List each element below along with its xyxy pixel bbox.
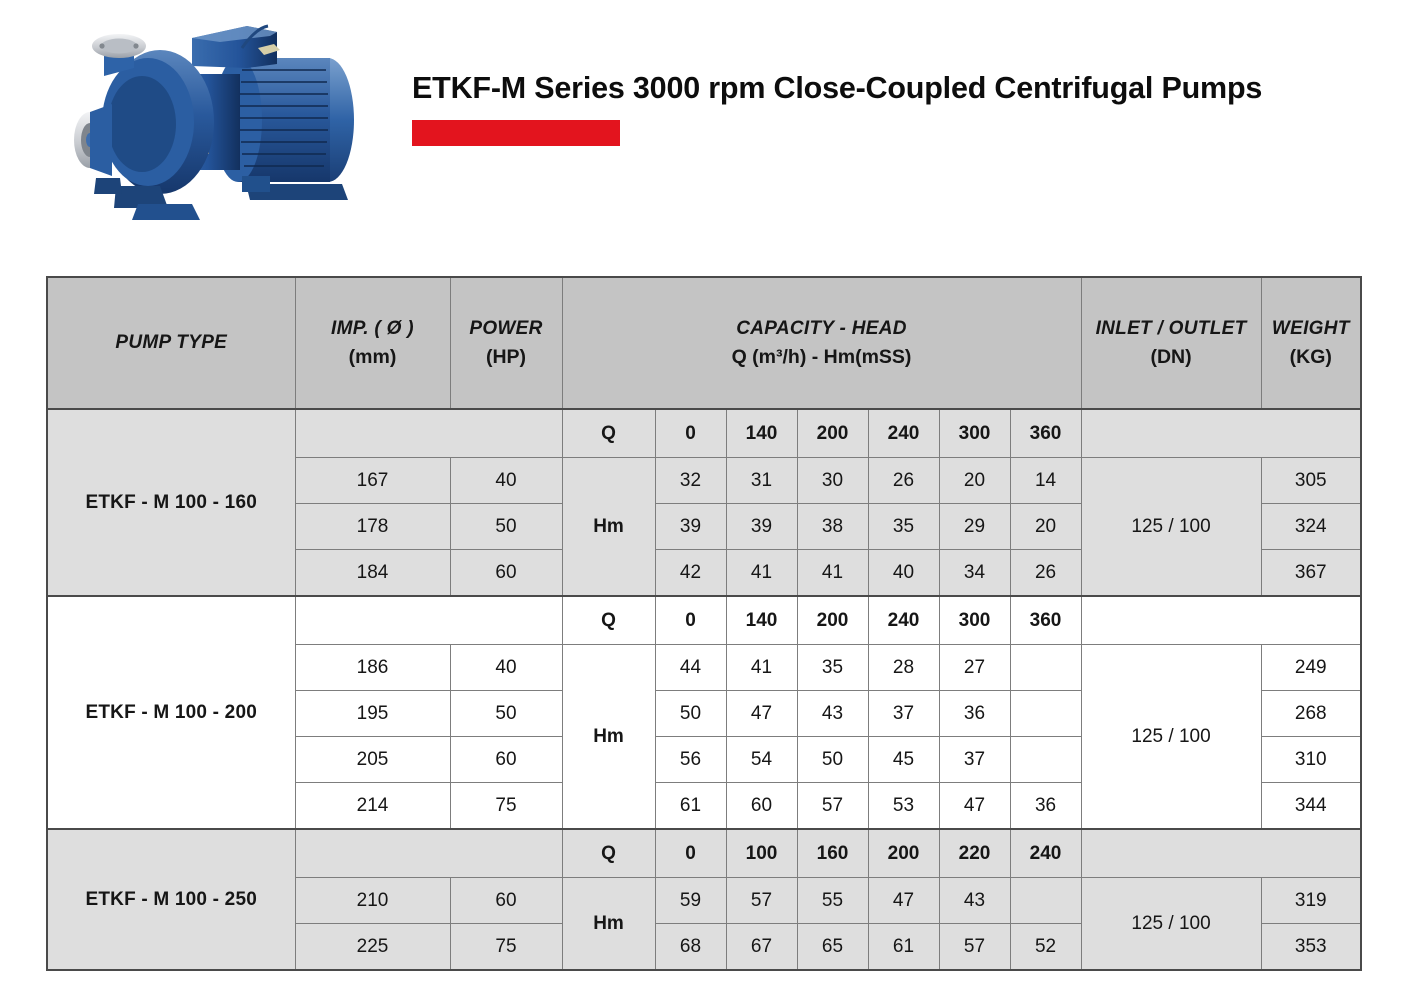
col-header-pump-type: PUMP TYPE	[47, 277, 295, 409]
weight-cell: 305	[1261, 458, 1361, 504]
pump-illustration-icon	[42, 8, 382, 236]
pump-specification-table: PUMP TYPE IMP. ( Ø ) (mm) POWER (HP) CAP…	[46, 276, 1362, 971]
power-cell: 75	[450, 924, 562, 971]
col-header-weight: WEIGHT (KG)	[1261, 277, 1361, 409]
head-value-cell: 47	[726, 691, 797, 737]
power-cell: 50	[450, 691, 562, 737]
q-header-row: ETKF - M 100 - 160Q0140200240300360	[47, 409, 1361, 458]
head-value-cell: 30	[797, 458, 868, 504]
weight-cell: 319	[1261, 878, 1361, 924]
head-value-cell	[1010, 645, 1081, 691]
inlet-outlet-cell: 125 / 100	[1081, 458, 1261, 597]
table-body: ETKF - M 100 - 160Q014020024030036016740…	[47, 409, 1361, 970]
head-value-cell: 56	[655, 737, 726, 783]
q-value-header-cell: 360	[1010, 409, 1081, 458]
head-value-cell: 36	[1010, 783, 1081, 830]
head-value-cell: 37	[868, 691, 939, 737]
head-value-cell: 36	[939, 691, 1010, 737]
q-value-header-cell: 0	[655, 829, 726, 878]
head-value-cell: 31	[726, 458, 797, 504]
q-value-header-cell: 220	[939, 829, 1010, 878]
q-row-spacer-cell	[295, 829, 562, 878]
q-value-header-cell: 140	[726, 596, 797, 645]
power-cell: 40	[450, 645, 562, 691]
head-value-cell: 41	[726, 645, 797, 691]
inlet-outlet-cell: 125 / 100	[1081, 645, 1261, 830]
col-header-weight-line1: WEIGHT	[1262, 315, 1361, 343]
document-header: ETKF-M Series 3000 rpm Close-Coupled Cen…	[0, 0, 1407, 250]
head-value-cell: 52	[1010, 924, 1081, 971]
impeller-diameter-cell: 186	[295, 645, 450, 691]
weight-cell: 324	[1261, 504, 1361, 550]
impeller-diameter-cell: 184	[295, 550, 450, 597]
table-head: PUMP TYPE IMP. ( Ø ) (mm) POWER (HP) CAP…	[47, 277, 1361, 409]
head-value-cell: 26	[868, 458, 939, 504]
q-label-cell: Q	[562, 409, 655, 458]
head-value-cell: 14	[1010, 458, 1081, 504]
page-title: ETKF-M Series 3000 rpm Close-Coupled Cen…	[412, 72, 1402, 106]
q-row-right-spacer-cell	[1081, 409, 1361, 458]
head-value-cell: 47	[939, 783, 1010, 830]
impeller-diameter-cell: 225	[295, 924, 450, 971]
head-value-cell: 34	[939, 550, 1010, 597]
head-value-cell: 44	[655, 645, 726, 691]
hm-label-cell: Hm	[562, 645, 655, 830]
head-value-cell: 57	[797, 783, 868, 830]
q-value-header-cell: 0	[655, 409, 726, 458]
q-label-cell: Q	[562, 829, 655, 878]
head-value-cell: 35	[797, 645, 868, 691]
col-header-impeller-line1: IMP. ( Ø )	[296, 315, 450, 343]
col-header-impeller: IMP. ( Ø ) (mm)	[295, 277, 450, 409]
head-value-cell: 20	[1010, 504, 1081, 550]
q-value-header-cell: 240	[868, 596, 939, 645]
q-value-header-cell: 300	[939, 409, 1010, 458]
q-value-header-cell: 200	[797, 596, 868, 645]
col-header-power-line1: POWER	[451, 315, 562, 343]
head-value-cell: 32	[655, 458, 726, 504]
col-header-power: POWER (HP)	[450, 277, 562, 409]
head-value-cell: 55	[797, 878, 868, 924]
head-value-cell: 28	[868, 645, 939, 691]
pump-type-cell: ETKF - M 100 - 250	[47, 829, 295, 970]
head-value-cell: 65	[797, 924, 868, 971]
head-value-cell: 27	[939, 645, 1010, 691]
hm-label-cell: Hm	[562, 458, 655, 597]
head-value-cell: 68	[655, 924, 726, 971]
head-value-cell: 50	[655, 691, 726, 737]
q-header-row: ETKF - M 100 - 250Q0100160200220240	[47, 829, 1361, 878]
hm-label-cell: Hm	[562, 878, 655, 971]
pump-type-cell: ETKF - M 100 - 200	[47, 596, 295, 829]
head-value-cell: 43	[939, 878, 1010, 924]
col-header-capacity-head: CAPACITY - HEAD Q (m³/h) - Hm(mSS)	[562, 277, 1081, 409]
power-cell: 60	[450, 550, 562, 597]
col-header-impeller-line2: (mm)	[296, 343, 450, 371]
weight-cell: 268	[1261, 691, 1361, 737]
head-value-cell: 50	[797, 737, 868, 783]
q-label-cell: Q	[562, 596, 655, 645]
pump-type-cell: ETKF - M 100 - 160	[47, 409, 295, 596]
head-value-cell: 43	[797, 691, 868, 737]
head-value-cell: 29	[939, 504, 1010, 550]
head-value-cell: 60	[726, 783, 797, 830]
head-value-cell: 20	[939, 458, 1010, 504]
q-row-right-spacer-cell	[1081, 829, 1361, 878]
q-value-header-cell: 240	[1010, 829, 1081, 878]
q-value-header-cell: 140	[726, 409, 797, 458]
head-value-cell	[1010, 878, 1081, 924]
impeller-diameter-cell: 195	[295, 691, 450, 737]
impeller-diameter-cell: 167	[295, 458, 450, 504]
head-value-cell: 39	[655, 504, 726, 550]
q-row-spacer-cell	[295, 596, 562, 645]
head-value-cell: 57	[939, 924, 1010, 971]
head-value-cell: 54	[726, 737, 797, 783]
col-header-power-line2: (HP)	[451, 343, 562, 371]
head-value-cell: 67	[726, 924, 797, 971]
q-value-header-cell: 0	[655, 596, 726, 645]
head-value-cell: 59	[655, 878, 726, 924]
q-row-right-spacer-cell	[1081, 596, 1361, 645]
power-cell: 60	[450, 878, 562, 924]
impeller-diameter-cell: 178	[295, 504, 450, 550]
power-cell: 50	[450, 504, 562, 550]
col-header-capacity-line2: Q (m³/h) - Hm(mSS)	[563, 343, 1081, 371]
col-header-inlet-line2: (DN)	[1082, 343, 1261, 371]
impeller-diameter-cell: 205	[295, 737, 450, 783]
table-header-row: PUMP TYPE IMP. ( Ø ) (mm) POWER (HP) CAP…	[47, 277, 1361, 409]
head-value-cell: 41	[726, 550, 797, 597]
head-value-cell: 61	[655, 783, 726, 830]
weight-cell: 344	[1261, 783, 1361, 830]
head-value-cell: 37	[939, 737, 1010, 783]
head-value-cell: 47	[868, 878, 939, 924]
head-value-cell	[1010, 737, 1081, 783]
power-cell: 75	[450, 783, 562, 830]
head-value-cell: 38	[797, 504, 868, 550]
impeller-diameter-cell: 210	[295, 878, 450, 924]
q-value-header-cell: 200	[868, 829, 939, 878]
head-value-cell: 61	[868, 924, 939, 971]
q-value-header-cell: 200	[797, 409, 868, 458]
power-cell: 40	[450, 458, 562, 504]
centrifugal-pump-photo	[42, 8, 382, 236]
head-value-cell: 41	[797, 550, 868, 597]
q-header-row: ETKF - M 100 - 200Q0140200240300360	[47, 596, 1361, 645]
head-value-cell: 35	[868, 504, 939, 550]
head-value-cell: 57	[726, 878, 797, 924]
q-value-header-cell: 300	[939, 596, 1010, 645]
weight-cell: 310	[1261, 737, 1361, 783]
impeller-diameter-cell: 214	[295, 783, 450, 830]
col-header-weight-line2: (KG)	[1262, 343, 1361, 371]
col-header-inlet-line1: INLET / OUTLET	[1082, 315, 1261, 343]
head-value-cell	[1010, 691, 1081, 737]
power-cell: 60	[450, 737, 562, 783]
weight-cell: 353	[1261, 924, 1361, 971]
head-value-cell: 45	[868, 737, 939, 783]
col-header-inlet-outlet: INLET / OUTLET (DN)	[1081, 277, 1261, 409]
head-value-cell: 42	[655, 550, 726, 597]
weight-cell: 367	[1261, 550, 1361, 597]
specification-table-wrap: PUMP TYPE IMP. ( Ø ) (mm) POWER (HP) CAP…	[46, 276, 1356, 971]
head-value-cell: 40	[868, 550, 939, 597]
q-row-spacer-cell	[295, 409, 562, 458]
accent-rule	[412, 120, 620, 146]
head-value-cell: 39	[726, 504, 797, 550]
title-block: ETKF-M Series 3000 rpm Close-Coupled Cen…	[412, 72, 1402, 146]
head-value-cell: 53	[868, 783, 939, 830]
head-value-cell: 26	[1010, 550, 1081, 597]
q-value-header-cell: 100	[726, 829, 797, 878]
q-value-header-cell: 160	[797, 829, 868, 878]
inlet-outlet-cell: 125 / 100	[1081, 878, 1261, 971]
col-header-capacity-line1: CAPACITY - HEAD	[563, 315, 1081, 343]
q-value-header-cell: 360	[1010, 596, 1081, 645]
weight-cell: 249	[1261, 645, 1361, 691]
q-value-header-cell: 240	[868, 409, 939, 458]
